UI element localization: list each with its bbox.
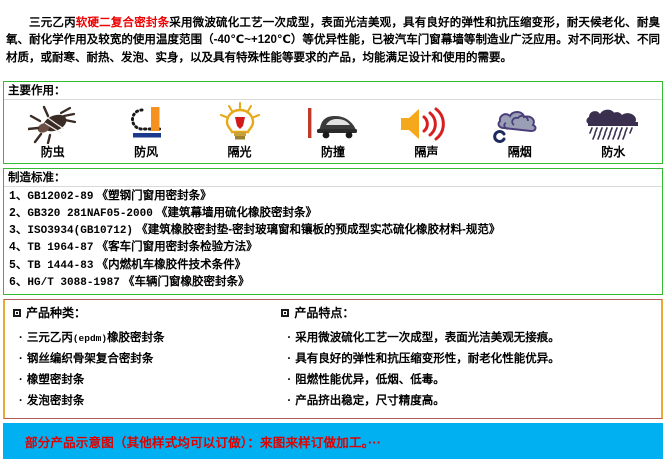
function-item-wind: 防风	[100, 102, 192, 160]
item-text: 三元乙丙	[27, 332, 73, 344]
product-type-item: ·钢丝编织骨架复合密封条	[13, 349, 271, 370]
speaker-sound-icon	[380, 102, 472, 144]
item-text: 采用微波硫化工艺一次成型，表面光洁美观无接痕。	[295, 332, 560, 344]
standard-row: 2、GB320 281NAF05-2000 《建筑幕墙用硫化橡胶密封条》	[9, 205, 662, 222]
dot-bullet-icon: ·	[19, 395, 23, 407]
dot-bullet-icon: ·	[287, 395, 291, 407]
rain-cloud-icon	[567, 102, 659, 144]
item-text: 橡塑密封条	[27, 374, 85, 386]
product-type-item: ·橡塑密封条	[13, 370, 271, 391]
product-type-item: ·三元乙丙(epdm)橡胶密封条	[13, 328, 271, 349]
item-text-tail: 橡胶密封条	[107, 332, 165, 344]
wind-icon	[100, 102, 192, 144]
function-label: 隔声	[380, 145, 472, 160]
standard-code: HG/T 3088-1987	[27, 277, 119, 289]
function-item-crash: 防撞	[287, 102, 379, 160]
product-panel: 产品种类： ·三元乙丙(epdm)橡胶密封条 ·钢丝编织骨架复合密封条 ·橡塑密…	[3, 299, 663, 419]
function-item-insect: 防虫	[7, 102, 99, 160]
square-bullet-icon	[13, 309, 21, 317]
standard-row: 5、TB 1444-83 《内燃机车橡胶件技术条件》	[9, 257, 662, 274]
product-feature-item: ·采用微波硫化工艺一次成型，表面光洁美观无接痕。	[281, 328, 661, 349]
standard-number: 5、	[9, 259, 27, 272]
function-item-water: 防水	[567, 102, 659, 160]
product-types-heading: 产品种类：	[13, 304, 271, 322]
product-feature-item: ·具有良好的弹性和抗压缩变形性，耐老化性能优异。	[281, 349, 661, 370]
functions-panel: 主要作用： 防虫	[3, 81, 663, 164]
function-item-light: 隔光	[194, 102, 286, 160]
standards-panel-title: 制造标准：	[4, 169, 662, 186]
intro-lead: 三元乙丙	[29, 17, 76, 29]
product-types-title: 产品种类：	[26, 304, 86, 322]
dot-bullet-icon: ·	[19, 353, 23, 365]
product-features-heading: 产品特点：	[281, 304, 661, 322]
standard-code: ISO3934(GB10712)	[27, 225, 133, 237]
intro-paragraph: 三元乙丙软硬二复合密封条采用微波硫化工艺一次成型，表面光洁美观，具有良好的弹性和…	[0, 12, 666, 70]
standard-row: 3、ISO3934(GB10712) 《建筑橡胶密封垫-密封玻璃窗和镶板的预成型…	[9, 222, 662, 239]
function-label: 防水	[567, 145, 659, 160]
function-label: 防撞	[287, 145, 379, 160]
standard-number: 6、	[9, 276, 27, 289]
functions-icon-strip: 防虫 防风	[4, 99, 662, 163]
lightbulb-icon	[194, 102, 286, 144]
standard-row: 4、TB 1964-87 《客车门窗用密封条检验方法》	[9, 239, 662, 256]
standard-name: 《塑钢门窗用密封条》	[97, 190, 212, 202]
standard-number: 4、	[9, 241, 27, 254]
function-item-sound: 隔声	[380, 102, 472, 160]
standard-row: 1、GB12002-89 《塑钢门窗用密封条》	[9, 188, 662, 205]
dot-bullet-icon: ·	[19, 374, 23, 386]
dot-bullet-icon: ·	[287, 374, 291, 386]
standard-name: 《客车门窗用密封条检验方法》	[97, 241, 258, 253]
footer-text: 部分产品示意图（其他样式均可以订做）：来图来样订做加工。···	[25, 432, 381, 451]
product-type-item: ·发泡密封条	[13, 391, 271, 412]
function-label: 防风	[100, 145, 192, 160]
standard-code: TB 1964-87	[27, 242, 93, 254]
intro-highlight: 软硬二复合密封条	[76, 17, 170, 29]
product-types-column: 产品种类： ·三元乙丙(epdm)橡胶密封条 ·钢丝编织骨架复合密封条 ·橡塑密…	[5, 304, 271, 412]
car-crash-icon	[287, 102, 379, 144]
square-bullet-icon	[281, 309, 289, 317]
function-label: 隔光	[194, 145, 286, 160]
standard-name: 《建筑幕墙用硫化橡胶密封条》	[156, 207, 317, 219]
product-feature-item: ·阻燃性能优异，低烟、低毒。	[281, 370, 661, 391]
product-feature-item: ·产品挤出稳定，尺寸精度高。	[281, 391, 661, 412]
standard-number: 1、	[9, 190, 27, 203]
function-item-smoke: 隔烟	[474, 102, 566, 160]
standard-row: 6、HG/T 3088-1987 《车辆门窗橡胶密封条》	[9, 274, 662, 291]
dot-bullet-icon: ·	[19, 332, 23, 344]
standard-number: 2、	[9, 207, 27, 220]
smoke-cloud-icon	[474, 102, 566, 144]
function-label: 防虫	[7, 145, 99, 160]
standard-code: GB12002-89	[27, 191, 93, 203]
standard-name: 《建筑橡胶密封垫-密封玻璃窗和镶板的预成型实芯硫化橡胶材料-规范》	[136, 224, 500, 236]
item-text: 钢丝编织骨架复合密封条	[27, 353, 154, 365]
dot-bullet-icon: ·	[287, 332, 291, 344]
standard-code: GB320 281NAF05-2000	[27, 208, 152, 220]
standard-code: TB 1444-83	[27, 260, 93, 272]
product-info-page: 三元乙丙软硬二复合密封条采用微波硫化工艺一次成型，表面光洁美观，具有良好的弹性和…	[0, 12, 666, 441]
dot-bullet-icon: ·	[287, 353, 291, 365]
functions-panel-title: 主要作用：	[4, 82, 662, 99]
standard-name: 《内燃机车橡胶件技术条件》	[97, 259, 247, 271]
standard-number: 3、	[9, 224, 27, 237]
product-features-title: 产品特点：	[294, 304, 354, 322]
item-text: 阻燃性能优异，低烟、低毒。	[295, 374, 445, 386]
standard-name: 《车辆门窗橡胶密封条》	[123, 276, 250, 288]
function-label: 隔烟	[474, 145, 566, 160]
insect-icon	[7, 102, 99, 144]
standards-panel: 制造标准： 1、GB12002-89 《塑钢门窗用密封条》 2、GB320 28…	[3, 168, 663, 296]
standards-list: 1、GB12002-89 《塑钢门窗用密封条》 2、GB320 281NAF05…	[4, 186, 662, 295]
item-text: 发泡密封条	[27, 395, 85, 407]
item-text: 具有良好的弹性和抗压缩变形性，耐老化性能优异。	[295, 353, 560, 365]
item-text: 产品挤出稳定，尺寸精度高。	[295, 395, 445, 407]
product-features-column: 产品特点： ·采用微波硫化工艺一次成型，表面光洁美观无接痕。 ·具有良好的弹性和…	[271, 304, 661, 412]
item-note: (epdm)	[73, 333, 107, 344]
